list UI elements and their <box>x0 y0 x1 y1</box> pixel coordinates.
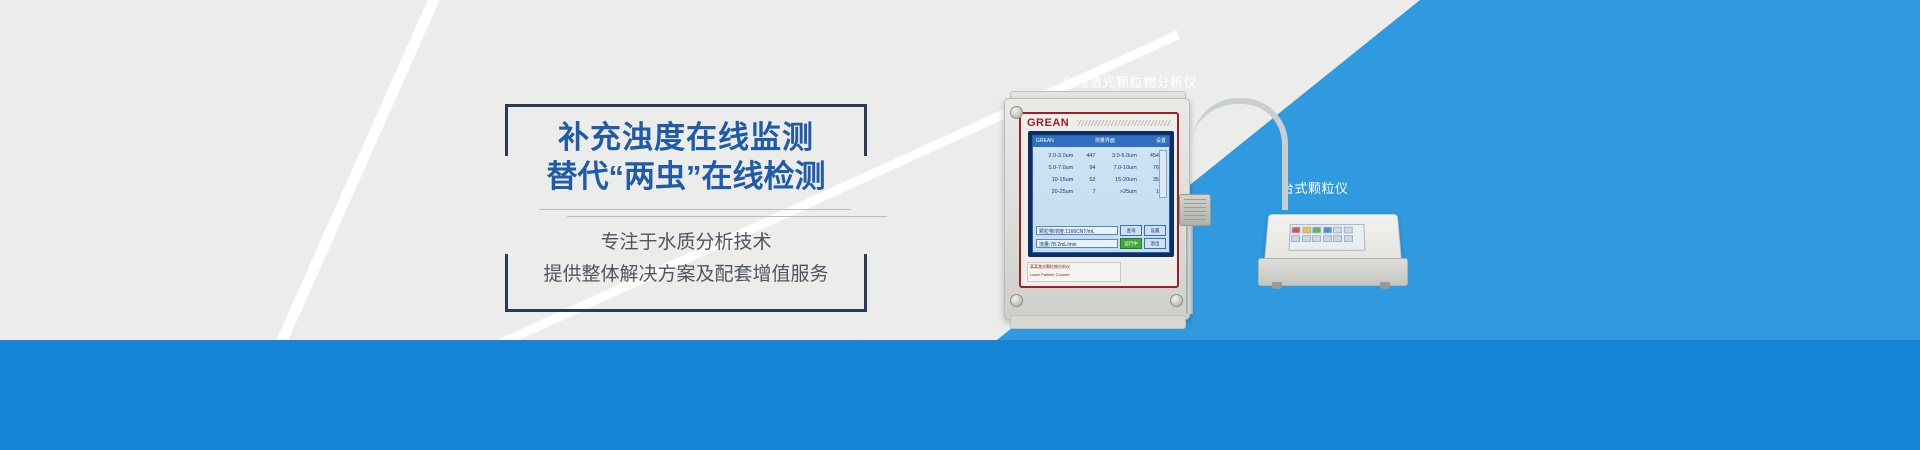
lcd-status-row-1: 颗粒物浓度:1166CNT/mL 查询 设置 <box>1036 225 1166 236</box>
query-button[interactable]: 查询 <box>1120 225 1142 236</box>
lcd-title-center: 测量界面 <box>1095 136 1115 147</box>
headline-line-1: 补充浊度在线监测 <box>505 118 867 157</box>
table-row: 10-15um 52 15-20um 35 <box>1036 174 1159 186</box>
bottom-blue-band-right <box>780 340 1920 450</box>
screw-icon <box>1010 106 1023 119</box>
range-2: 3.0-5.0um <box>1100 153 1140 159</box>
table-row: 5.0-7.0um 94 7.0-10um 76 <box>1036 162 1159 174</box>
range-2: >25um <box>1100 189 1140 195</box>
divider-line-1 <box>539 209 851 210</box>
lcd-title-right: 设置 <box>1156 136 1166 147</box>
exit-button[interactable]: 退出 <box>1144 238 1166 249</box>
bench-key[interactable] <box>1291 235 1300 242</box>
screw-icon <box>1170 294 1183 307</box>
connecting-tube <box>1192 98 1288 210</box>
count-1: 94 <box>1076 165 1099 171</box>
range-2: 7.0-10um <box>1100 165 1140 171</box>
settings-button[interactable]: 设置 <box>1144 225 1166 236</box>
lcd-scrollbar[interactable] <box>1159 150 1167 198</box>
analyzer-device-image: GREAN GREAN 测量界面 设置 2.0-3.0um 447 3.0-5.… <box>1004 98 1190 320</box>
subtitle-line-2: 提供整体解决方案及配套增值服务 <box>505 262 867 288</box>
nameplate-en: Laser Particle Counter <box>1028 271 1120 278</box>
analyzer-display-bezel: GREAN 测量界面 设置 2.0-3.0um 447 3.0-5.0um 45… <box>1028 131 1174 257</box>
table-row: 2.0-3.0um 447 3.0-5.0um 454 <box>1036 150 1159 162</box>
range-1: 2.0-3.0um <box>1036 153 1076 159</box>
divider-group <box>539 209 857 221</box>
analyzer-support-rod <box>1186 226 1193 314</box>
promo-banner: 补充浊度在线监测 替代“两虫”在线检测 专注于水质分析技术 提供整体解决方案及配… <box>0 0 1920 450</box>
panel-hatch-pattern <box>1077 120 1171 126</box>
bench-key[interactable] <box>1322 235 1331 242</box>
lcd-title-bar: GREAN 测量界面 设置 <box>1033 136 1169 147</box>
lcd-data-table: 2.0-3.0um 447 3.0-5.0um 454 5.0-7.0um 94… <box>1036 150 1159 198</box>
bench-key[interactable] <box>1312 227 1321 234</box>
count-1: 447 <box>1076 153 1099 159</box>
nameplate-cn: 某某激光颗粒物分析仪 <box>1028 263 1120 271</box>
bench-key[interactable] <box>1291 227 1300 234</box>
table-row: 20-25um 7 >25um 1 <box>1036 186 1159 198</box>
bench-foot <box>1272 282 1282 289</box>
count-1: 52 <box>1076 177 1099 183</box>
analyzer-bottom-lip <box>1010 315 1186 329</box>
concentration-readout: 颗粒物浓度:1166CNT/mL <box>1036 226 1118 235</box>
range-1: 20-25um <box>1036 189 1076 195</box>
range-1: 5.0-7.0um <box>1036 165 1076 171</box>
headline-line-2: 替代“两虫”在线检测 <box>505 157 867 196</box>
bench-keypad[interactable] <box>1291 227 1353 242</box>
bench-label: 台式颗粒仪 <box>1281 178 1349 197</box>
bench-device-image <box>1258 212 1406 294</box>
bench-key[interactable] <box>1302 227 1311 234</box>
subtitle-line-1: 专注于水质分析技术 <box>505 230 867 256</box>
lcd-screen[interactable]: GREAN 测量界面 设置 2.0-3.0um 447 3.0-5.0um 45… <box>1032 135 1170 253</box>
bench-key[interactable] <box>1333 227 1342 234</box>
bench-foot <box>1380 282 1390 289</box>
range-1: 10-15um <box>1036 177 1076 183</box>
frame-top-border <box>505 104 867 107</box>
lcd-status-row-2: 流量:78.2mL/min 运行中 退出 <box>1036 238 1166 249</box>
bench-key[interactable] <box>1323 227 1332 234</box>
status-badge: 运行中 <box>1120 238 1142 249</box>
bench-key[interactable] <box>1301 235 1310 242</box>
analyzer-nameplate: 某某激光颗粒物分析仪 Laser Particle Counter <box>1027 262 1121 282</box>
brand-logo: GREAN <box>1027 117 1069 129</box>
bench-key[interactable] <box>1312 235 1321 242</box>
analyzer-front-panel: GREAN GREAN 测量界面 设置 2.0-3.0um 447 3.0-5.… <box>1019 112 1179 288</box>
bench-key[interactable] <box>1343 235 1352 242</box>
count-2: 35 <box>1140 177 1159 183</box>
page-title: 补充浊度在线监测 替代“两虫”在线检测 <box>505 118 867 196</box>
screw-icon <box>1010 294 1023 307</box>
count-2: 1 <box>1140 189 1159 195</box>
flow-readout: 流量:78.2mL/min <box>1036 239 1118 248</box>
headline-block: 补充浊度在线监测 替代“两虫”在线检测 专注于水质分析技术 提供整体解决方案及配… <box>505 104 867 312</box>
bench-key[interactable] <box>1333 235 1342 242</box>
divider-line-2 <box>567 216 887 217</box>
bench-key[interactable] <box>1343 227 1352 234</box>
range-2: 15-20um <box>1100 177 1140 183</box>
analyzer-label: 在线激光颗粒物分析仪 <box>1062 72 1197 91</box>
count-1: 7 <box>1076 189 1099 195</box>
frame-bottom-border <box>505 309 867 312</box>
lcd-title-left: GREAN <box>1036 136 1054 147</box>
count-2: 454 <box>1140 153 1159 159</box>
count-2: 76 <box>1140 165 1159 171</box>
